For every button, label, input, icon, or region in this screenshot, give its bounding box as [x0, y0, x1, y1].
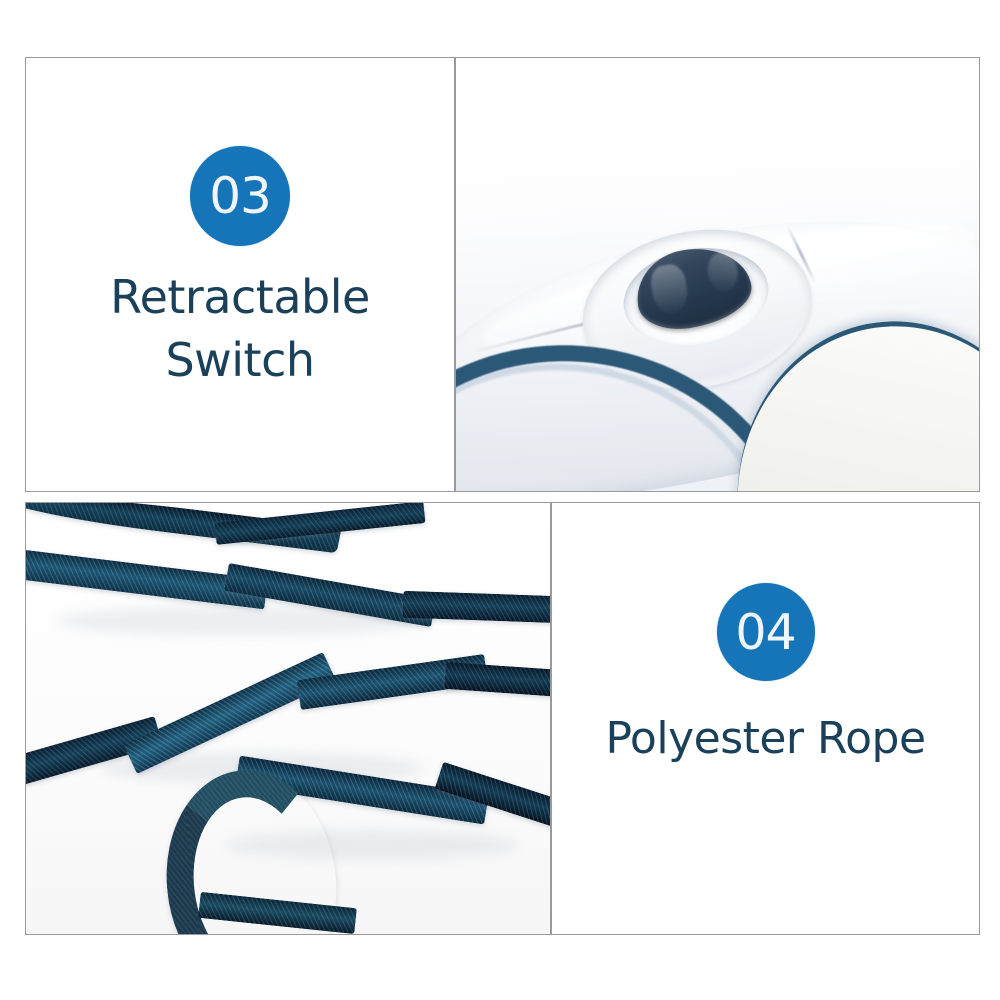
panel-retractable-switch-caption: 03 Retractable Switch — [25, 57, 455, 492]
webbing-strand-3d — [444, 662, 551, 699]
feature-grid-page: 03 Retractable Switch — [0, 0, 1000, 1000]
caption-label-retractable-switch: Retractable Switch — [110, 266, 370, 393]
panel-retractable-switch-photo — [455, 57, 980, 492]
step-badge-04: 04 — [717, 583, 815, 681]
panel-polyester-rope-caption: 04 Polyester Rope — [551, 502, 980, 935]
panel-polyester-rope-photo — [25, 502, 551, 935]
photo-polyester-webbing — [26, 503, 550, 934]
caption-block-04: 04 Polyester Rope — [552, 583, 979, 770]
caption-label-polyester-rope: Polyester Rope — [605, 709, 925, 770]
caption-block-03: 03 Retractable Switch — [26, 146, 454, 393]
photo-retractable-leash-switch — [456, 58, 979, 491]
step-badge-03: 03 — [190, 146, 290, 246]
